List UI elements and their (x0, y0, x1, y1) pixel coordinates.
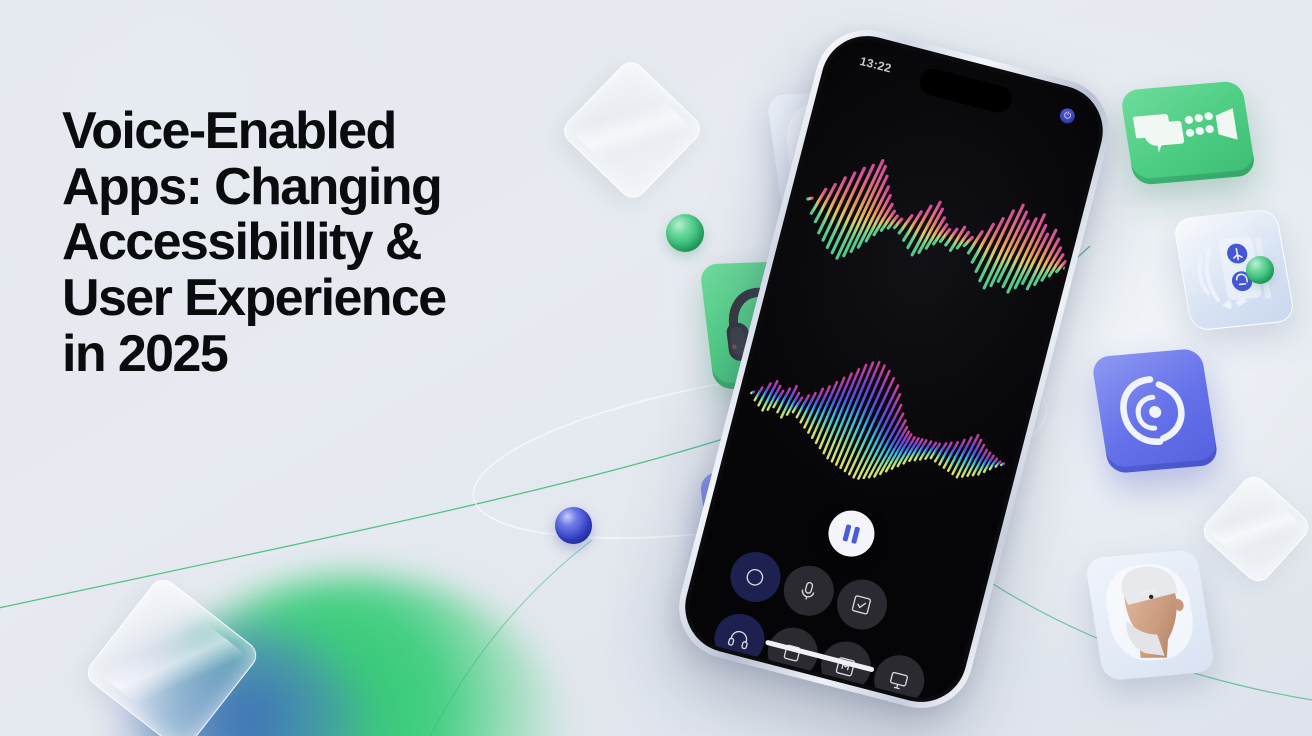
hero-banner: Voice-Enabled Apps: Changing Accessibill… (0, 0, 1312, 736)
glass-cube-right-icon (1198, 471, 1312, 587)
speech-bubbles-icon (1132, 113, 1186, 155)
headline-line-5: in 2025 (62, 327, 602, 383)
screen-reader-icon (885, 666, 913, 694)
card-accessibility (1172, 208, 1295, 331)
blue-sphere-icon (555, 507, 592, 544)
phone-screen: 13:22 ⏻ (680, 31, 1108, 707)
dynamic-island (917, 66, 1015, 116)
card-ear-listen (1091, 348, 1219, 474)
app-button-transcribe[interactable] (831, 574, 892, 635)
app-grid (706, 546, 948, 707)
phone-bezel: 13:22 ⏻ (675, 26, 1113, 712)
headline-line-3: Accessibillity & (62, 215, 602, 271)
status-bar-time: 13:22 (858, 54, 893, 76)
waveform-bottom (727, 321, 1052, 532)
app-button-voice-memo[interactable] (778, 560, 839, 621)
circle-outline-icon (741, 563, 769, 591)
app-button-listen[interactable] (709, 608, 770, 669)
pause-button[interactable] (823, 506, 879, 562)
green-sphere-icon (666, 214, 704, 252)
megaphone-icon (1215, 108, 1238, 141)
braille-dots-icon (1183, 112, 1216, 137)
card-senior-user (1084, 549, 1215, 681)
microphone-icon (794, 577, 822, 605)
waveform-top (773, 116, 1106, 354)
portrait-senior-man-icon (1084, 549, 1215, 681)
headline-line-4: User Experience (62, 271, 602, 327)
headline-line-1: Voice-Enabled (62, 104, 602, 160)
note-check-icon (848, 590, 876, 618)
power-indicator-icon: ⏻ (1058, 107, 1076, 125)
page-title: Voice-Enabled Apps: Changing Accessibill… (62, 104, 602, 382)
ear-listen-icon (1111, 370, 1199, 452)
pause-icon-bar-left (843, 524, 852, 542)
headphones-icon (725, 625, 753, 653)
card-chat (1120, 80, 1257, 185)
app-grid-spacer (909, 594, 922, 642)
app-button-screen-reader[interactable] (868, 650, 929, 707)
headline-line-2: Apps: Changing (62, 160, 602, 216)
app-button-voice-assistant[interactable] (725, 546, 786, 607)
green-sphere-small-icon (1246, 256, 1274, 284)
pause-icon-bar-right (851, 526, 860, 544)
communication-braille-icons (1132, 102, 1244, 164)
sound-waves-icon (1196, 251, 1218, 302)
